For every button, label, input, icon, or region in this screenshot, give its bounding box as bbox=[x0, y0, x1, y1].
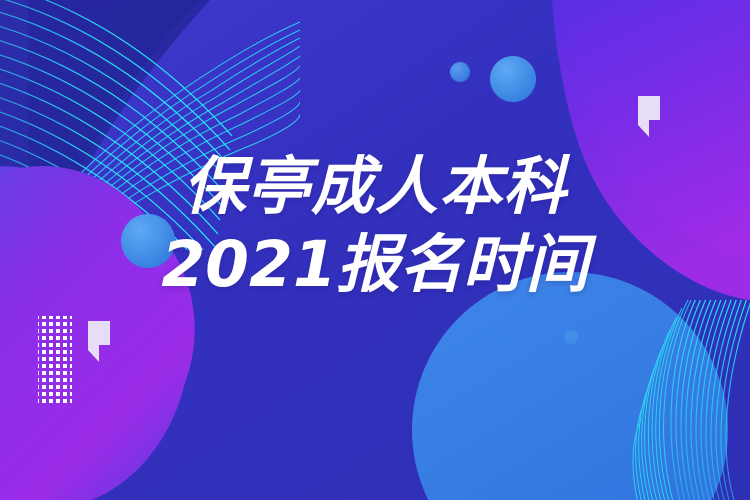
decor-circle-large bbox=[490, 56, 536, 102]
promotional-banner: 保亭成人本科 2021报名时间 bbox=[0, 0, 750, 500]
title-line-1: 保亭成人本科 bbox=[0, 148, 750, 226]
decor-dot bbox=[564, 330, 578, 344]
decor-circle-big-blue bbox=[412, 272, 728, 500]
decor-circle-small bbox=[450, 62, 470, 82]
title-line-2: 2021报名时间 bbox=[0, 226, 750, 304]
banner-title: 保亭成人本科 2021报名时间 bbox=[0, 148, 750, 304]
